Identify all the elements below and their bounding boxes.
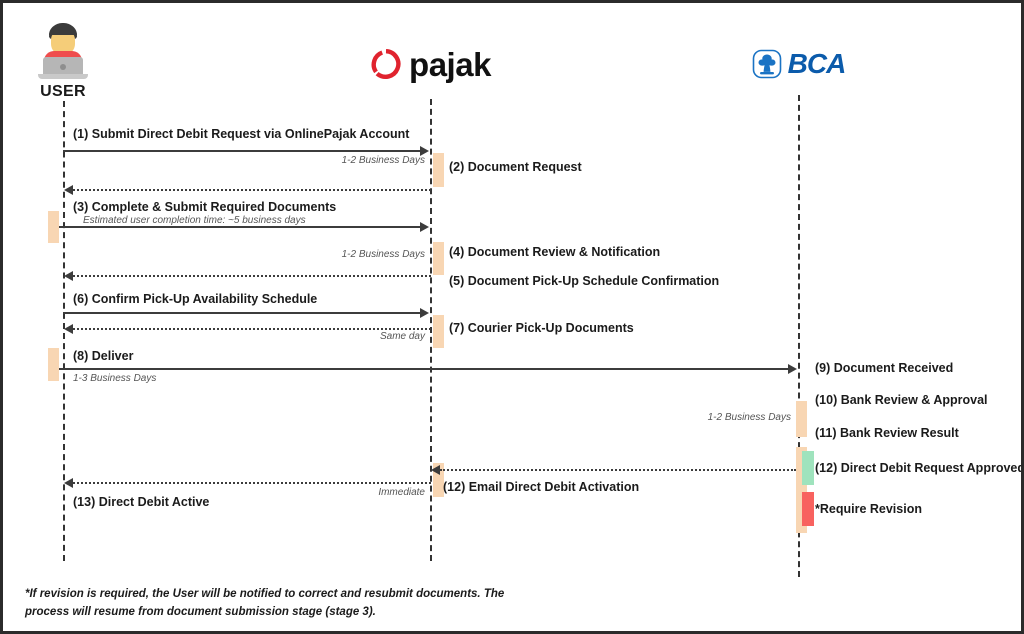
message-label-6: (6) Confirm Pick-Up Availability Schedul… xyxy=(73,292,317,306)
message-label-4: (4) Document Review & Notification xyxy=(449,245,660,259)
activation-pajak-courier-pickup xyxy=(433,315,444,348)
message-label-11: (11) Bank Review Result xyxy=(815,426,959,440)
message-line-1 xyxy=(63,150,421,152)
message-arrowhead-8 xyxy=(788,364,797,374)
pajak-logo-icon: pajak xyxy=(340,47,520,81)
activation-pajak-document-review xyxy=(433,242,444,275)
message-line-8 xyxy=(59,368,789,370)
footnote-line-2: will resume from document submission sta… xyxy=(72,606,376,618)
message-arrowhead-5 xyxy=(64,271,73,281)
note-duration-7: Same day xyxy=(303,331,425,342)
message-arrowhead-12 xyxy=(64,478,73,488)
activation-bca-bank-review xyxy=(796,401,807,437)
message-label-12: (12) Email Direct Debit Activation xyxy=(443,480,639,494)
note-duration-12: Immediate xyxy=(303,487,425,498)
activation-user-submit-documents xyxy=(48,211,59,243)
status-box-require-revision xyxy=(802,492,814,526)
message-label-2: (2) Document Request xyxy=(449,160,582,174)
message-label-12-approved: (12) Direct Debit Request Approved xyxy=(815,461,1024,475)
message-line-5 xyxy=(73,275,431,277)
message-label-13: (13) Direct Debit Active xyxy=(73,495,209,509)
actor-label-user: USER xyxy=(31,83,95,101)
pajak-wordmark: pajak xyxy=(409,48,491,81)
lifeline-pajak xyxy=(430,99,432,561)
message-label-9: (9) Document Received xyxy=(815,361,953,375)
note-duration-8: 1-3 Business Days xyxy=(73,373,156,384)
message-line-3 xyxy=(59,226,421,228)
activation-pajak-document-request xyxy=(433,153,444,187)
message-label-7: (7) Courier Pick-Up Documents xyxy=(449,321,634,335)
message-arrowhead-3 xyxy=(420,222,429,232)
message-label-10: (10) Bank Review & Approval xyxy=(815,393,988,407)
status-box-approved xyxy=(802,451,814,485)
activation-user-deliver xyxy=(48,348,59,381)
note-duration-3: Estimated user completion time: ~5 busin… xyxy=(83,215,306,226)
note-duration-1: 1-2 Business Days xyxy=(273,155,425,166)
note-duration-4: 1-2 Business Days xyxy=(273,249,425,260)
message-line-7 xyxy=(73,328,431,330)
sequence-diagram-canvas: USER pajak BCA xyxy=(0,0,1024,634)
bca-wordmark: BCA xyxy=(788,50,846,78)
bca-logo-icon: BCA xyxy=(718,48,878,80)
message-arrowhead-bca-to-pajak xyxy=(431,465,440,475)
actor-header-bca: BCA xyxy=(718,48,878,80)
user-at-laptop-icon xyxy=(32,21,94,83)
message-line-12 xyxy=(73,482,431,484)
message-label-require-revision: *Require Revision xyxy=(815,502,922,516)
message-arrowhead-2-return xyxy=(64,185,73,195)
message-line-bca-to-pajak xyxy=(440,469,796,471)
actor-header-pajak: pajak xyxy=(340,47,520,81)
message-line-2-return xyxy=(73,189,431,191)
message-label-3: (3) Complete & Submit Required Documents xyxy=(73,200,336,214)
message-label-1: (1) Submit Direct Debit Request via Onli… xyxy=(73,127,409,141)
note-duration-10: 1-2 Business Days xyxy=(653,412,791,423)
message-arrowhead-6 xyxy=(420,308,429,318)
message-line-6 xyxy=(63,312,421,314)
message-arrowhead-7 xyxy=(64,324,73,334)
message-label-8: (8) Deliver xyxy=(73,349,133,363)
footnote: *If revision is required, the User will … xyxy=(25,586,545,622)
message-label-5: (5) Document Pick-Up Schedule Confirmati… xyxy=(449,274,719,288)
actor-header-user: USER xyxy=(31,21,95,101)
